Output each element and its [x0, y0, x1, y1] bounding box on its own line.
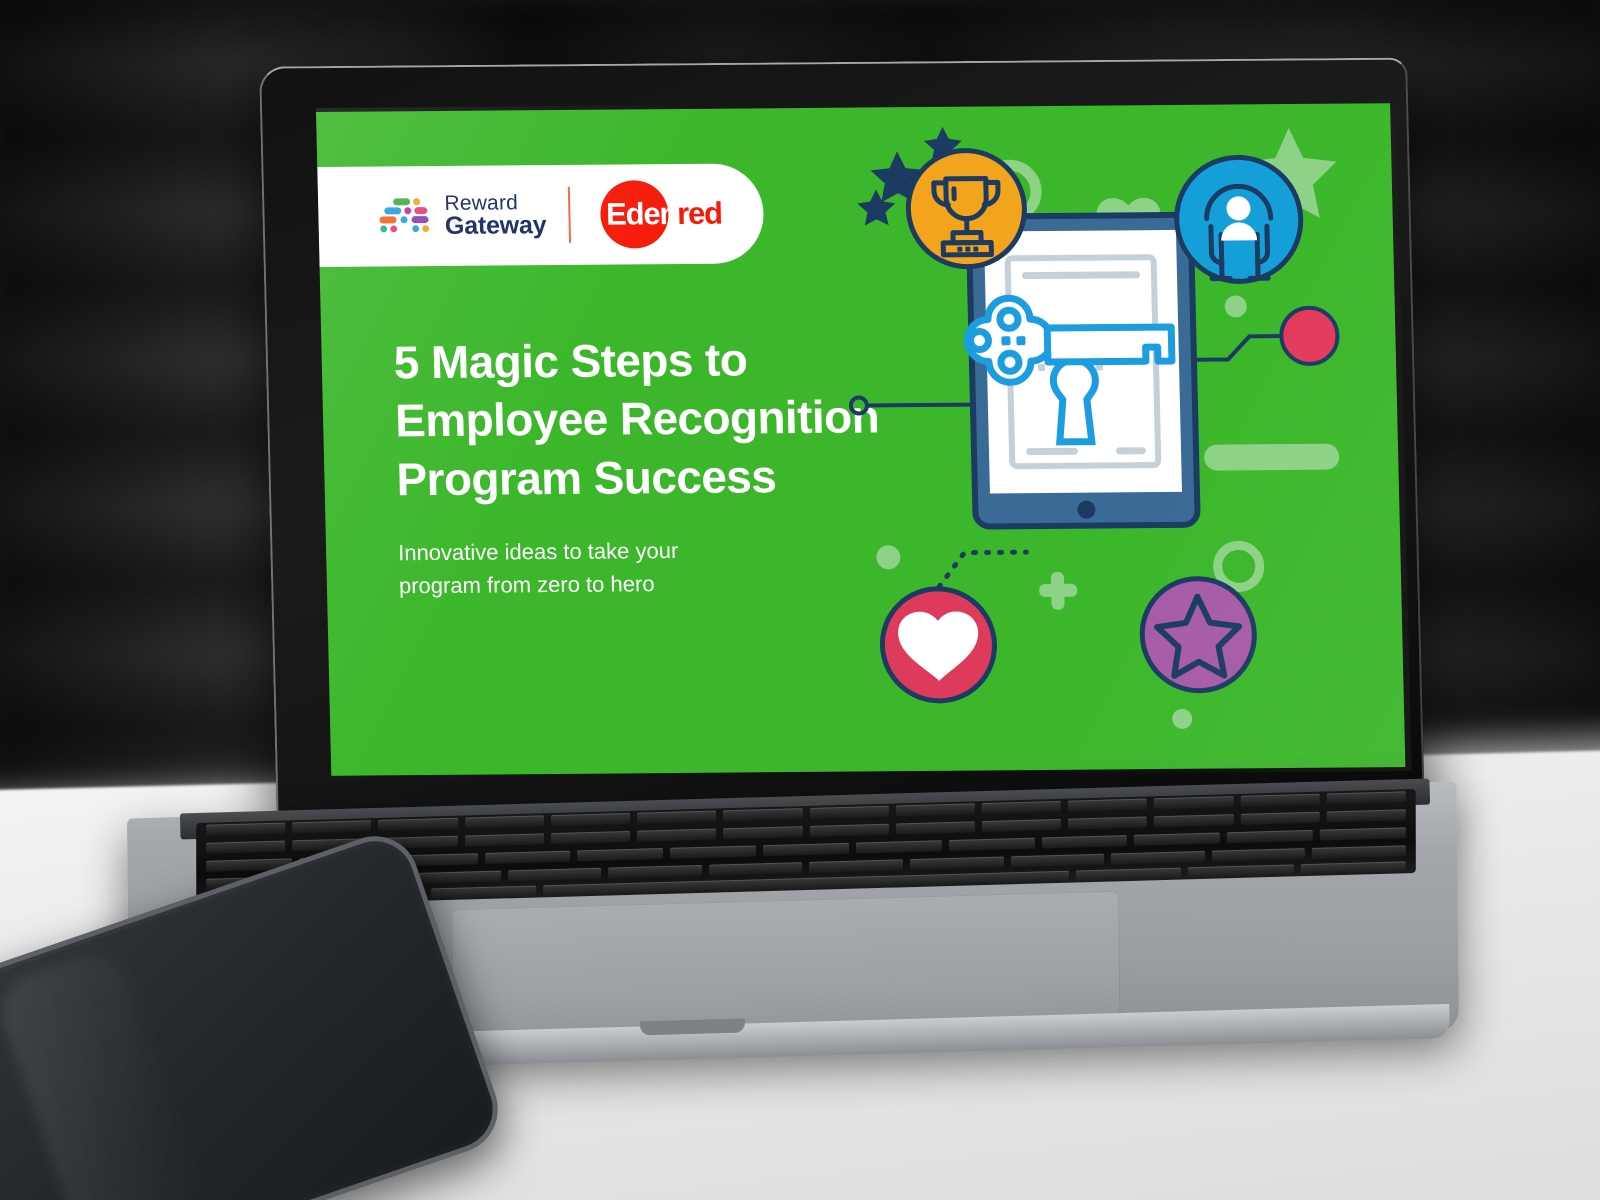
slide-subhead: Innovative ideas to take your program fr…	[398, 533, 750, 602]
slide-illustration	[836, 113, 1405, 767]
trophy-badge	[907, 150, 1026, 267]
tablet-device	[965, 215, 1198, 527]
decor-dot-light-3	[876, 545, 901, 569]
decor-crimson-dot	[1281, 308, 1338, 364]
reward-gateway-line2: Gateway	[445, 213, 547, 239]
people-badge	[1175, 157, 1302, 282]
decor-bar-light	[1204, 444, 1340, 471]
logo-divider	[568, 187, 571, 243]
decor-plus-light	[1039, 572, 1078, 610]
tablet-doc-line-bottom-a	[1026, 448, 1078, 455]
decor-connector-right	[1193, 336, 1282, 360]
decor-dot-light-1	[1224, 295, 1247, 317]
keyhole-icon	[1053, 360, 1097, 442]
edenred-logo: Edenred	[591, 178, 743, 251]
decor-dotted-line	[938, 552, 1027, 587]
heart-badge	[881, 588, 996, 701]
laptop-screen[interactable]: Reward Gateway Edenred 5 Magic Steps to …	[316, 103, 1405, 776]
reward-gateway-mark-icon	[379, 196, 434, 236]
smartphone-glare	[0, 946, 209, 1200]
key-hole-ring-3	[1001, 353, 1019, 371]
tablet-doc-dot-a	[1038, 364, 1045, 371]
edenred-wordmark: Edenred	[606, 196, 722, 233]
presentation-slide: Reward Gateway Edenred 5 Magic Steps to …	[316, 103, 1405, 776]
decor-dot-light-4	[1172, 709, 1192, 729]
laptop-front-notch	[640, 1019, 745, 1036]
decor-ring-light-2	[1217, 545, 1260, 587]
edenred-word-white: Eden	[606, 196, 678, 232]
star-badge	[1141, 578, 1256, 691]
brand-logo-lockup: Reward Gateway Edenred	[317, 163, 764, 267]
edenred-word-red: red	[677, 196, 722, 231]
reward-gateway-wordmark: Reward Gateway	[444, 192, 547, 239]
key-hole-ring-1	[1000, 310, 1018, 328]
key-hole-ring-2	[970, 331, 988, 349]
decor-connector-left	[851, 397, 975, 414]
tablet-doc-line-top	[1022, 271, 1140, 279]
tablet-doc-line-bottom-b	[1116, 447, 1146, 454]
reward-gateway-logo: Reward Gateway	[379, 192, 547, 239]
